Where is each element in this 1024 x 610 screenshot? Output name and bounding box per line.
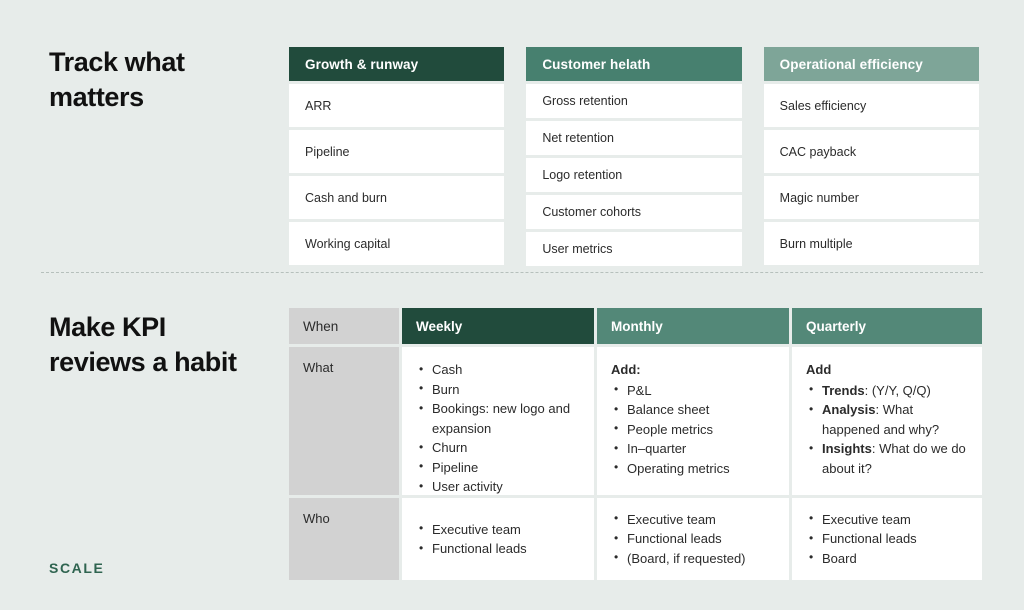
bullet-list: Trends: (Y/Y, Q/Q)Analysis: What happene…	[806, 381, 970, 479]
kpi-item[interactable]: Burn multiple	[764, 222, 979, 265]
row-label-what: What	[289, 347, 399, 495]
list-item: Functional leads	[611, 529, 777, 549]
table-row-what: What CashBurnBookings: new logo and expa…	[289, 347, 979, 495]
list-item: Executive team	[611, 510, 777, 530]
list-item: Churn	[416, 438, 582, 458]
column-header-monthly: Monthly	[597, 308, 789, 344]
kpi-column-header-growth-runway: Growth & runway	[289, 47, 504, 81]
kpi-item[interactable]: ARR	[289, 84, 504, 127]
column-header-weekly: Weekly	[402, 308, 594, 344]
kpi-item[interactable]: Customer cohorts	[526, 195, 741, 229]
list-item: In–quarter	[611, 439, 777, 459]
kpi-review-cadence-table: When Weekly Monthly Quarterly What CashB…	[289, 308, 979, 580]
list-item-strong: Insights	[822, 441, 872, 456]
cell-lead-label: Add:	[611, 360, 777, 380]
list-item: Insights: What do we do about it?	[806, 439, 970, 478]
list-item: Functional leads	[416, 539, 582, 559]
list-item: Trends: (Y/Y, Q/Q)	[806, 381, 970, 401]
list-item: Operating metrics	[611, 459, 777, 479]
bullet-list: Executive teamFunctional leads(Board, if…	[611, 510, 777, 569]
kpi-item[interactable]: CAC payback	[764, 130, 979, 173]
kpi-column-operational-efficiency: Operational efficiency Sales efficiency …	[764, 47, 979, 266]
kpi-column-customer-health: Customer helath Gross retention Net rete…	[526, 47, 741, 266]
kpi-item[interactable]: Net retention	[526, 121, 741, 155]
cell-lead-label: Add	[806, 360, 970, 380]
kpi-item[interactable]: Gross retention	[526, 84, 741, 118]
list-item: User activity	[416, 477, 582, 497]
list-item: Functional leads	[806, 529, 970, 549]
cell-who-monthly: Executive teamFunctional leads(Board, if…	[597, 498, 789, 580]
table-header-row: When Weekly Monthly Quarterly	[289, 308, 979, 344]
kpi-item[interactable]: User metrics	[526, 232, 741, 266]
list-item: Balance sheet	[611, 400, 777, 420]
kpi-item[interactable]: Working capital	[289, 222, 504, 265]
kpi-column-header-operational-efficiency: Operational efficiency	[764, 47, 979, 81]
list-item: Cash	[416, 360, 582, 380]
list-item-strong: Analysis	[822, 402, 875, 417]
column-header-when: When	[289, 308, 399, 344]
list-item: People metrics	[611, 420, 777, 440]
cell-what-weekly: CashBurnBookings: new logo and expansion…	[402, 347, 594, 495]
list-item: Bookings: new logo and expansion	[416, 399, 582, 438]
table-row-who: Who Executive teamFunctional leads Execu…	[289, 498, 979, 580]
kpi-category-table: Growth & runway ARR Pipeline Cash and bu…	[289, 47, 979, 266]
bullet-list: P&LBalance sheetPeople metricsIn–quarter…	[611, 381, 777, 479]
list-item-strong: Trends	[822, 383, 865, 398]
list-item: P&L	[611, 381, 777, 401]
cell-what-monthly: Add: P&LBalance sheetPeople metricsIn–qu…	[597, 347, 789, 495]
section-divider	[41, 272, 983, 273]
bullet-list: CashBurnBookings: new logo and expansion…	[416, 360, 582, 497]
kpi-column-growth-runway: Growth & runway ARR Pipeline Cash and bu…	[289, 47, 504, 266]
kpi-item[interactable]: Logo retention	[526, 158, 741, 192]
list-item: Executive team	[806, 510, 970, 530]
list-item: Board	[806, 549, 970, 569]
list-item: (Board, if requested)	[611, 549, 777, 569]
cell-what-quarterly: Add Trends: (Y/Y, Q/Q)Analysis: What hap…	[792, 347, 982, 495]
kpi-column-header-customer-health: Customer helath	[526, 47, 741, 81]
page-title-make-kpi-reviews-a-habit: Make KPI reviews a habit	[49, 310, 264, 380]
brand-logo: SCALE	[49, 560, 104, 576]
page-title-track-what-matters: Track what matters	[49, 45, 264, 115]
cell-who-weekly: Executive teamFunctional leads	[402, 498, 594, 580]
row-label-who: Who	[289, 498, 399, 580]
list-item: Burn	[416, 380, 582, 400]
list-item: Analysis: What happened and why?	[806, 400, 970, 439]
kpi-item[interactable]: Magic number	[764, 176, 979, 219]
list-item: Executive team	[416, 520, 582, 540]
bullet-list: Executive teamFunctional leads	[416, 520, 582, 559]
kpi-item[interactable]: Cash and burn	[289, 176, 504, 219]
kpi-item[interactable]: Pipeline	[289, 130, 504, 173]
bullet-list: Executive teamFunctional leadsBoard	[806, 510, 970, 569]
column-header-quarterly: Quarterly	[792, 308, 982, 344]
kpi-item[interactable]: Sales efficiency	[764, 84, 979, 127]
list-item: Pipeline	[416, 458, 582, 478]
cell-who-quarterly: Executive teamFunctional leadsBoard	[792, 498, 982, 580]
